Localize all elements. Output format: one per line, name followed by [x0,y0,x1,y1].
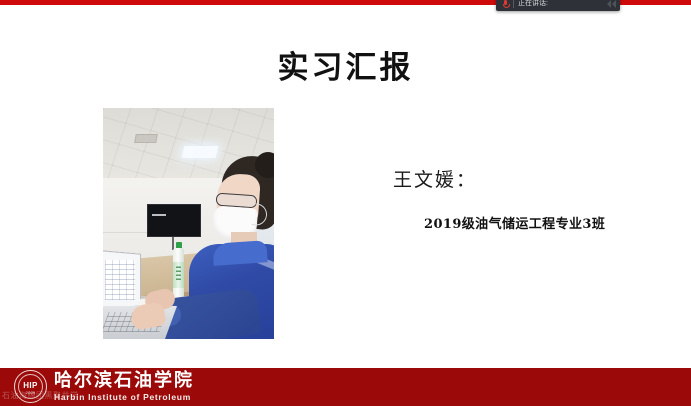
internship-photo [103,108,274,339]
chevron-left-icon-2 [612,0,616,8]
meeting-speaker-overlay[interactable]: 正在讲话: [496,0,620,11]
photo-subject-hair-bun [255,152,274,178]
presenter-class: 2019级油气储运工程专业3班 [424,213,605,232]
speaking-status-label: 正在讲话: [518,0,603,11]
brand-watermark: 石油海绵团黑聚共学 [2,390,79,401]
chevron-left-icon[interactable] [607,0,616,8]
microphone-icon [502,0,509,9]
presentation-slide: 正在讲话: 实习汇报 [0,0,691,406]
photo-wall-line [103,232,151,233]
photo-ceiling-vent [134,134,158,143]
institution-brand-bar: HIP 2009 哈尔滨石油学院 Harbin Institute of Pet… [0,368,691,406]
hip-seal-initials: HIP [15,381,46,390]
photo-bottle-label [173,262,184,288]
photo-tv-glare [152,214,166,216]
photo-canvas [103,108,274,339]
photo-wall-tv [147,204,201,237]
presenter-name: 王文媛： [393,165,477,192]
photo-subject-collar [212,240,267,266]
photo-ceiling-light [182,146,219,158]
overlay-divider [513,0,514,8]
chevron-left-icon-1 [607,0,611,8]
slide-title: 实习汇报 [0,42,691,87]
photo-laptop-document [105,260,135,300]
institution-name-cn: 哈尔滨石油学院 [54,371,194,391]
